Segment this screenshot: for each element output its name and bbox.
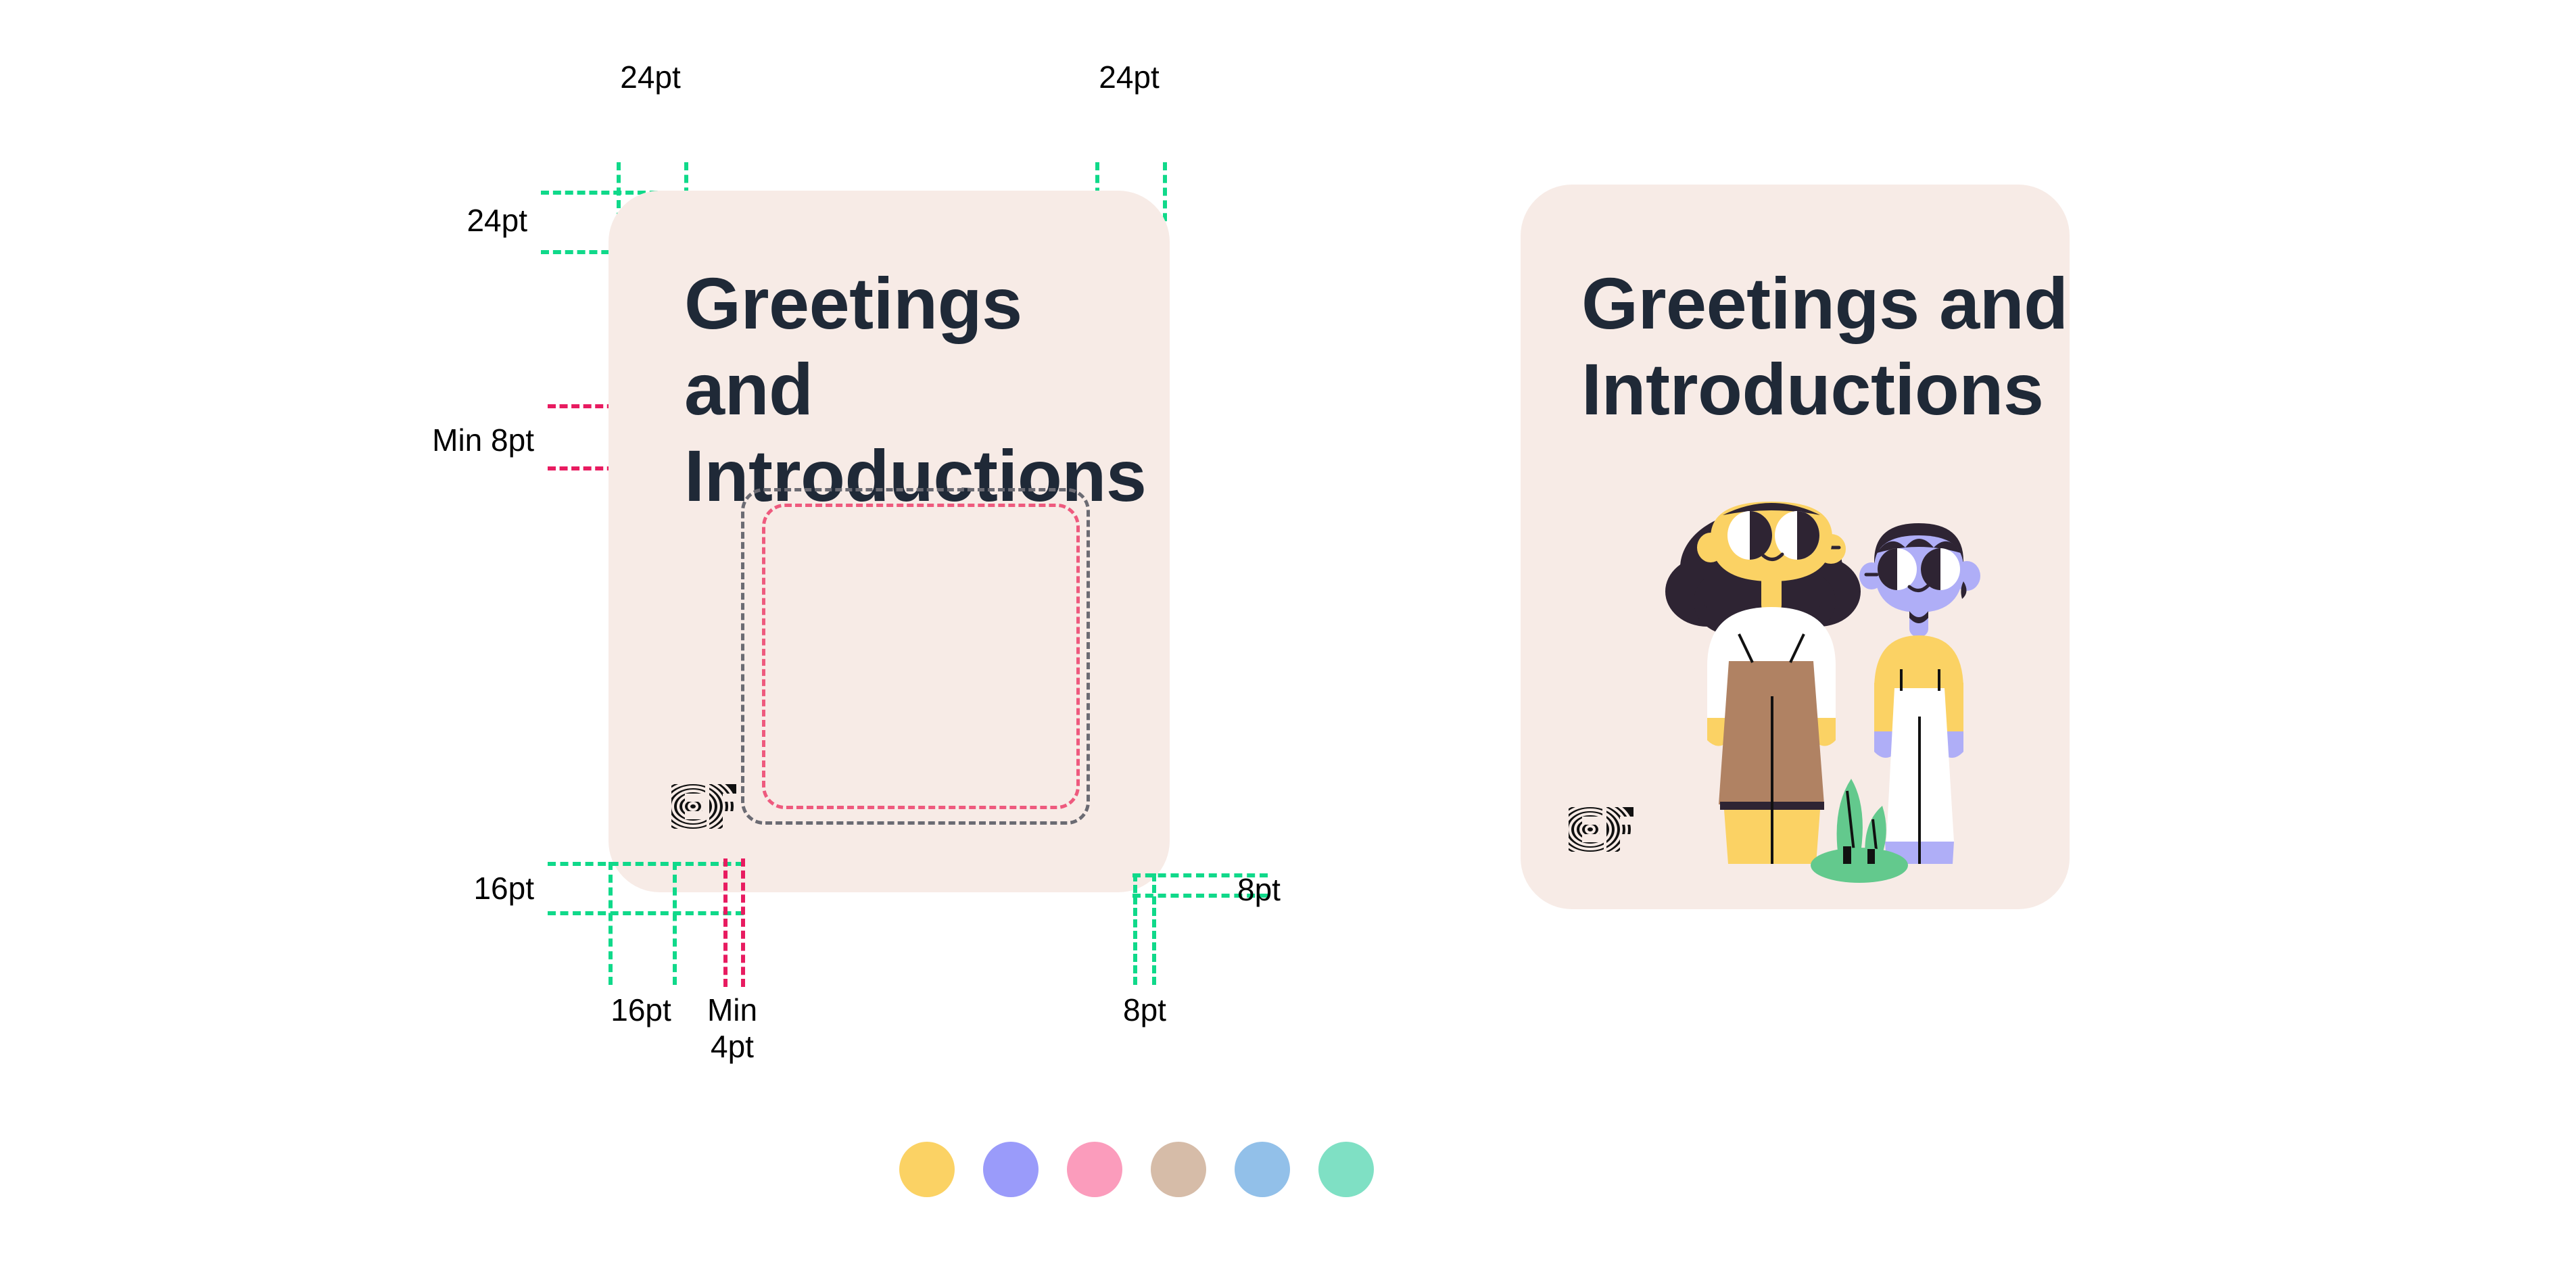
ef-logo-icon (1563, 803, 1639, 856)
swatch-tan[interactable] (1151, 1142, 1206, 1197)
greeting-characters-illustration (1636, 473, 2055, 892)
swatch-periwinkle[interactable] (983, 1142, 1039, 1197)
guide-label-title-gap: Min 8pt (311, 422, 534, 459)
guide-label-logo-gap: Min 4pt (665, 992, 800, 1065)
guide-label-bottom-left-horizontal: 16pt (338, 871, 534, 907)
guide-bottom-left-horizontal-b (548, 911, 744, 915)
guide-label-bottom-right-horizontal: 8pt (1237, 872, 1373, 909)
final-card-title: Greetings and Introductions (1581, 260, 2068, 433)
guide-label-top-left-horizontal: 24pt (325, 203, 527, 239)
swatch-pink[interactable] (1067, 1142, 1122, 1197)
guide-label-bottom-right-vertical: 8pt (1077, 992, 1212, 1029)
inner-safe-area-box (762, 504, 1080, 809)
guide-logo-gap-left (723, 858, 728, 987)
guide-bottom-left-vertical-a (609, 862, 613, 985)
guide-label-top-right-vertical: 24pt (1062, 59, 1197, 96)
guide-bottom-left-vertical-b (673, 862, 677, 985)
guide-bottom-right-vertical-b (1152, 873, 1156, 985)
design-spec-canvas: 24pt 24pt 24pt Min 8pt Greetings and Int… (0, 0, 2576, 1283)
swatch-mint[interactable] (1318, 1142, 1374, 1197)
ef-logo-icon (666, 780, 742, 833)
guide-logo-gap-right (741, 858, 745, 987)
color-palette (899, 1142, 1374, 1197)
guide-label-top-left-vertical: 24pt (583, 59, 718, 96)
swatch-yellow[interactable] (899, 1142, 955, 1197)
guide-bottom-left-horizontal-a (548, 862, 744, 866)
guide-bottom-right-vertical-a (1133, 873, 1137, 985)
spec-card-title: Greetings and Introductions (684, 260, 1170, 518)
swatch-light-blue[interactable] (1235, 1142, 1290, 1197)
